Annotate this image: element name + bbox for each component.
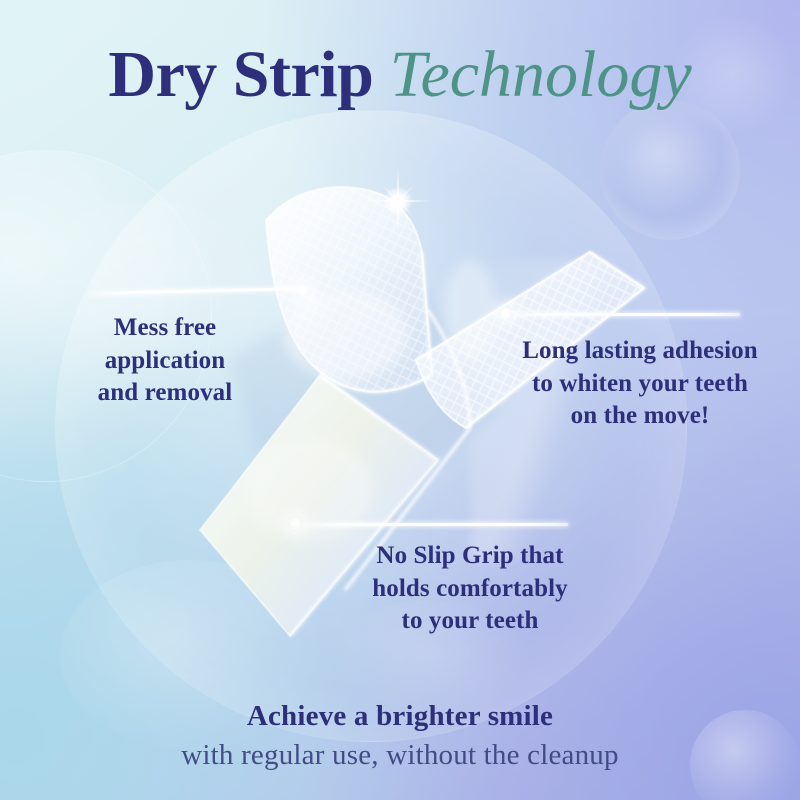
callout-no-slip-grip: No Slip Grip that holds comfortably to y… [320,540,620,638]
callout-line: Long lasting adhesion [490,335,790,368]
callout-line: and removal [50,377,280,410]
callout-line: No Slip Grip that [320,540,620,573]
callout-line: application [50,345,280,378]
callout-line: to whiten your teeth [490,368,790,401]
callout-line: holds comfortably [320,573,620,606]
footer-headline: Achieve a brighter smile [0,698,800,734]
callout-mess-free: Mess free application and removal [50,312,280,410]
callout-line: to your teeth [320,605,620,638]
callout-line: Mess free [50,312,280,345]
callout-line: on the move! [490,400,790,433]
title-italic-part: Technology [390,38,692,111]
page-title: Dry Strip Technology [0,42,800,108]
footer-text: Achieve a brighter smile with regular us… [0,698,800,775]
callout-long-lasting: Long lasting adhesion to whiten your tee… [490,335,790,433]
title-bold-part: Dry Strip [108,38,373,111]
marketing-graphic: Dry Strip Technology [0,0,800,800]
footer-subline: with regular use, without the cleanup [0,737,800,775]
